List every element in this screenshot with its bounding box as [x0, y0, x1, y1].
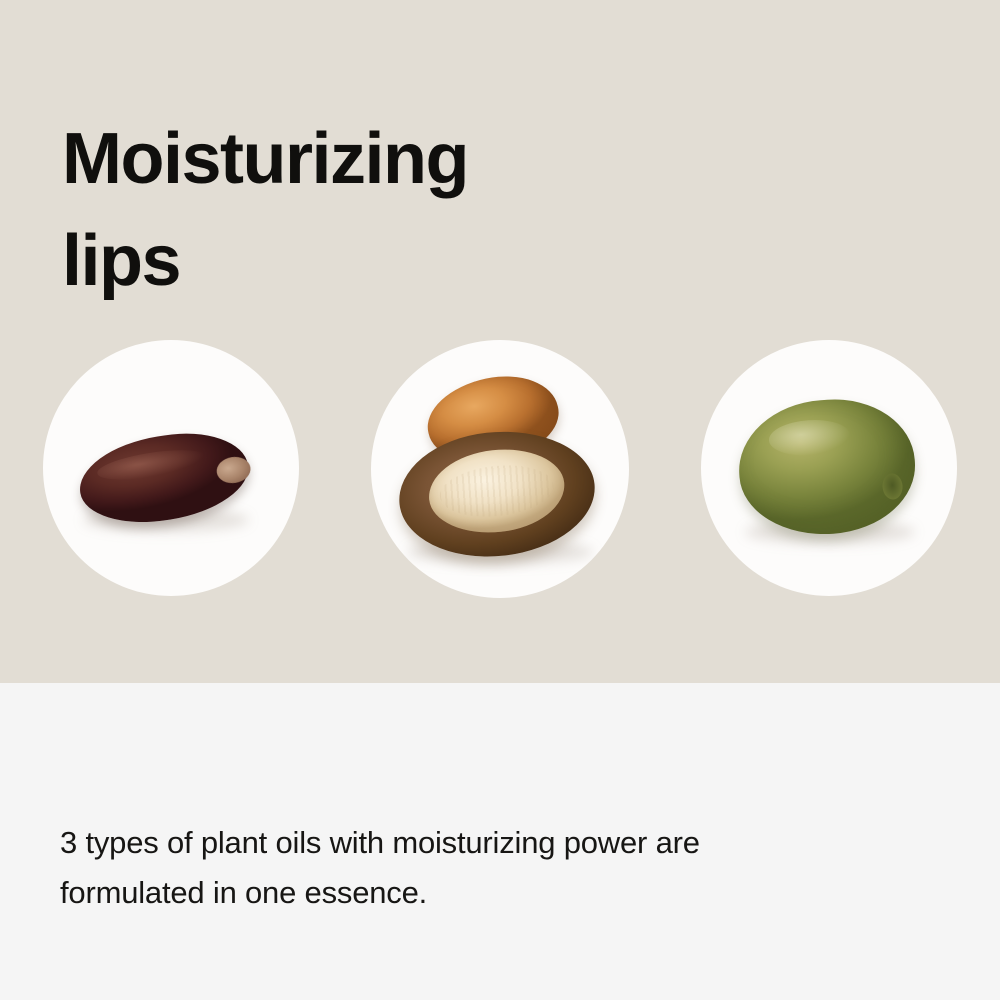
ingredient-photo-jojoba-seed — [43, 340, 299, 596]
page-title: Moisturizing lips — [62, 108, 662, 312]
ingredient-image-row — [0, 340, 1000, 600]
caption-section: 3 types of plant oils with moisturizing … — [0, 683, 1000, 1000]
jojoba-seed-tip — [215, 454, 253, 485]
olive-fruit-shape — [735, 394, 920, 540]
olive-stem-dimple — [882, 473, 904, 500]
hero-section: Moisturizing lips — [0, 0, 1000, 683]
product-infographic: Moisturizing lips — [0, 0, 1000, 1000]
caption-text: 3 types of plant oils with moisturizing … — [60, 818, 940, 918]
ingredient-photo-olive-fruit — [701, 340, 957, 596]
olive-highlight — [767, 417, 850, 457]
ingredient-photo-argan-nut — [371, 340, 629, 598]
argan-kernel-shape — [425, 443, 569, 539]
